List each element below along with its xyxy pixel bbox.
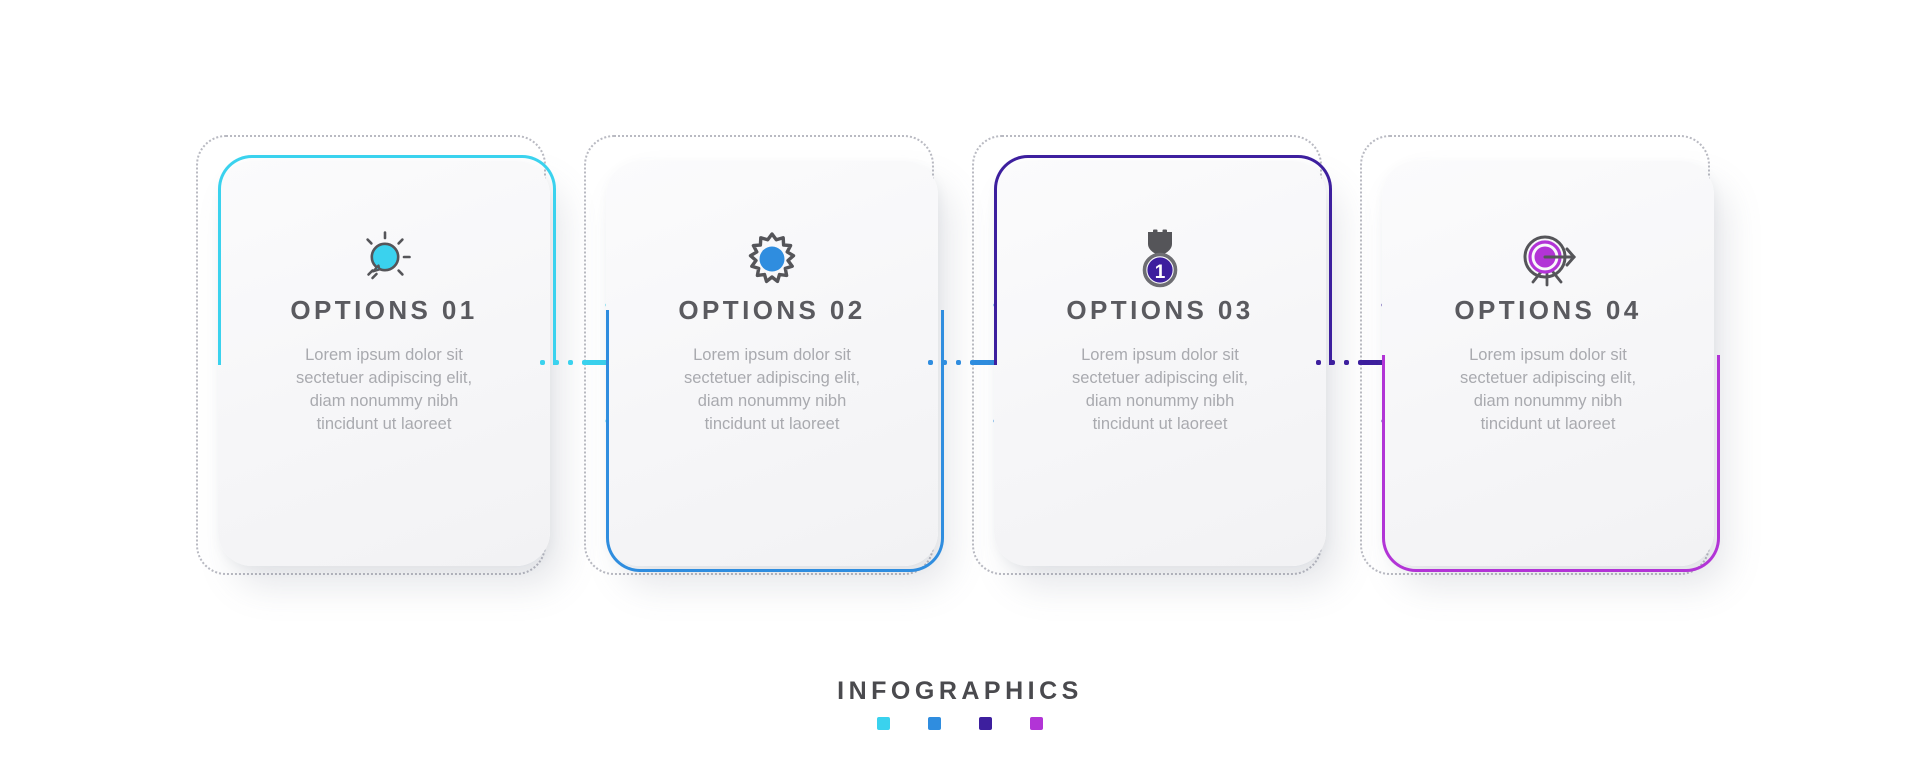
card-1-line-2: sectetuer adipiscing elit, <box>242 367 526 390</box>
medal-icon: 1 <box>1131 228 1189 290</box>
card-3-line-2: sectetuer adipiscing elit, <box>1018 367 1302 390</box>
card-3-line-4: tincidunt ut laoreet <box>1018 413 1302 436</box>
target-icon <box>1517 230 1579 288</box>
card-3-description: Lorem ipsum dolor sit sectetuer adipisci… <box>994 344 1326 436</box>
card-4-line-2: sectetuer adipiscing elit, <box>1406 367 1690 390</box>
card-2-line-4: tincidunt ut laoreet <box>630 413 914 436</box>
lightbulb-icon <box>354 229 414 289</box>
card-3-line-1: Lorem ipsum dolor sit <box>1018 344 1302 367</box>
card-4-line-3: diam nonummy nibh <box>1406 390 1690 413</box>
card-2-description: Lorem ipsum dolor sit sectetuer adipisci… <box>606 344 938 436</box>
footer-swatch-row <box>0 717 1920 730</box>
card-2-title: OPTIONS 02 <box>606 295 938 326</box>
dash-row-3 <box>1316 360 1388 365</box>
dash-row-2 <box>928 360 1000 365</box>
card-2-line-1: Lorem ipsum dolor sit <box>630 344 914 367</box>
footer-label: INFOGRAPHICS <box>0 677 1920 706</box>
card-2-line-2: sectetuer adipiscing elit, <box>630 367 914 390</box>
footer-swatch-indigo <box>979 717 992 730</box>
card-4-line-4: tincidunt ut laoreet <box>1406 413 1690 436</box>
gear-icon <box>743 230 801 288</box>
footer-swatch-blue <box>928 717 941 730</box>
card-1-description: Lorem ipsum dolor sit sectetuer adipisci… <box>218 344 550 436</box>
card-4-line-1: Lorem ipsum dolor sit <box>1406 344 1690 367</box>
card-1-line-4: tincidunt ut laoreet <box>242 413 526 436</box>
footer-swatch-magenta <box>1030 717 1043 730</box>
medal-number: 1 <box>1155 262 1166 283</box>
step-card-4[interactable]: OPTIONS 04 Lorem ipsum dolor sit sectetu… <box>1382 161 1714 566</box>
card-3-title: OPTIONS 03 <box>994 295 1326 326</box>
card-3-line-3: diam nonummy nibh <box>1018 390 1302 413</box>
dash-row-1 <box>540 360 612 365</box>
footer-swatch-cyan <box>877 717 890 730</box>
card-4-description: Lorem ipsum dolor sit sectetuer adipisci… <box>1382 344 1714 436</box>
card-1-title: OPTIONS 01 <box>218 295 550 326</box>
step-card-3[interactable]: 1 OPTIONS 03 Lorem ipsum dolor sit secte… <box>994 161 1326 566</box>
card-3-icon-slot: 1 <box>994 223 1326 295</box>
step-card-1[interactable]: OPTIONS 01 Lorem ipsum dolor sit sectetu… <box>218 161 550 566</box>
footer: INFOGRAPHICS <box>0 677 1920 730</box>
card-4-title: OPTIONS 04 <box>1382 295 1714 326</box>
infographic-canvas: OPTIONS 01 Lorem ipsum dolor sit sectetu… <box>0 0 1920 768</box>
card-1-line-1: Lorem ipsum dolor sit <box>242 344 526 367</box>
card-1-icon-slot <box>218 223 550 295</box>
card-2-line-3: diam nonummy nibh <box>630 390 914 413</box>
card-4-icon-slot <box>1382 223 1714 295</box>
step-card-2[interactable]: OPTIONS 02 Lorem ipsum dolor sit sectetu… <box>606 161 938 566</box>
card-1-line-3: diam nonummy nibh <box>242 390 526 413</box>
card-2-icon-slot <box>606 223 938 295</box>
